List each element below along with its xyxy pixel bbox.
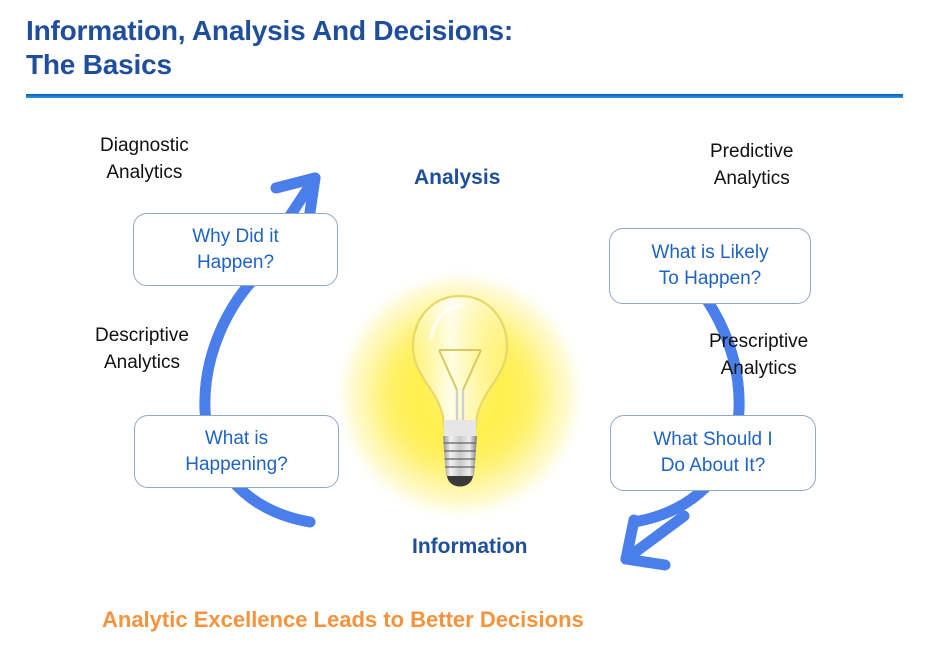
node-label-analysis: Analysis bbox=[414, 166, 500, 190]
title-divider bbox=[26, 94, 903, 98]
page-title: Information, Analysis And Decisions: The… bbox=[26, 14, 906, 82]
category-label-predictive: Predictive Analytics bbox=[710, 138, 793, 192]
category-descriptive-line-2: Analytics bbox=[95, 349, 189, 376]
category-prescriptive-line-2: Analytics bbox=[709, 355, 808, 382]
question-box-prescriptive[interactable]: What Should I Do About It? bbox=[610, 415, 816, 491]
category-label-prescriptive: Prescriptive Analytics bbox=[709, 328, 808, 382]
question-box-diagnostic[interactable]: Why Did it Happen? bbox=[133, 213, 338, 286]
arrow-to-information-icon bbox=[626, 516, 684, 565]
category-predictive-line-1: Predictive bbox=[710, 138, 793, 165]
question-diagnostic-line-2: Happen? bbox=[197, 250, 274, 276]
question-diagnostic-line-1: Why Did it bbox=[192, 224, 279, 250]
question-descriptive-line-1: What is bbox=[205, 426, 268, 452]
cycle-diagram: Analysis Information Diagnostic Analytic… bbox=[0, 110, 945, 590]
page-title-line-1: Information, Analysis And Decisions: bbox=[26, 14, 906, 48]
category-diagnostic-line-1: Diagnostic bbox=[100, 132, 189, 159]
question-prescriptive-line-2: Do About It? bbox=[661, 453, 766, 479]
question-predictive-line-1: What is Likely bbox=[651, 240, 768, 266]
category-predictive-line-2: Analytics bbox=[710, 165, 793, 192]
question-prescriptive-line-1: What Should I bbox=[653, 427, 772, 453]
question-box-descriptive[interactable]: What is Happening? bbox=[134, 415, 339, 488]
category-descriptive-line-1: Descriptive bbox=[95, 322, 189, 349]
tagline: Analytic Excellence Leads to Better Deci… bbox=[102, 607, 584, 633]
category-label-diagnostic: Diagnostic Analytics bbox=[100, 132, 189, 186]
node-label-information: Information bbox=[412, 535, 528, 559]
question-descriptive-line-2: Happening? bbox=[185, 452, 287, 478]
question-box-predictive[interactable]: What is Likely To Happen? bbox=[609, 228, 811, 304]
lightbulb-icon bbox=[405, 290, 515, 505]
category-prescriptive-line-1: Prescriptive bbox=[709, 328, 808, 355]
category-label-descriptive: Descriptive Analytics bbox=[95, 322, 189, 376]
question-predictive-line-2: To Happen? bbox=[659, 266, 761, 292]
slide-canvas: Information, Analysis And Decisions: The… bbox=[0, 0, 945, 657]
page-title-line-2: The Basics bbox=[26, 48, 906, 82]
category-diagnostic-line-2: Analytics bbox=[100, 159, 189, 186]
